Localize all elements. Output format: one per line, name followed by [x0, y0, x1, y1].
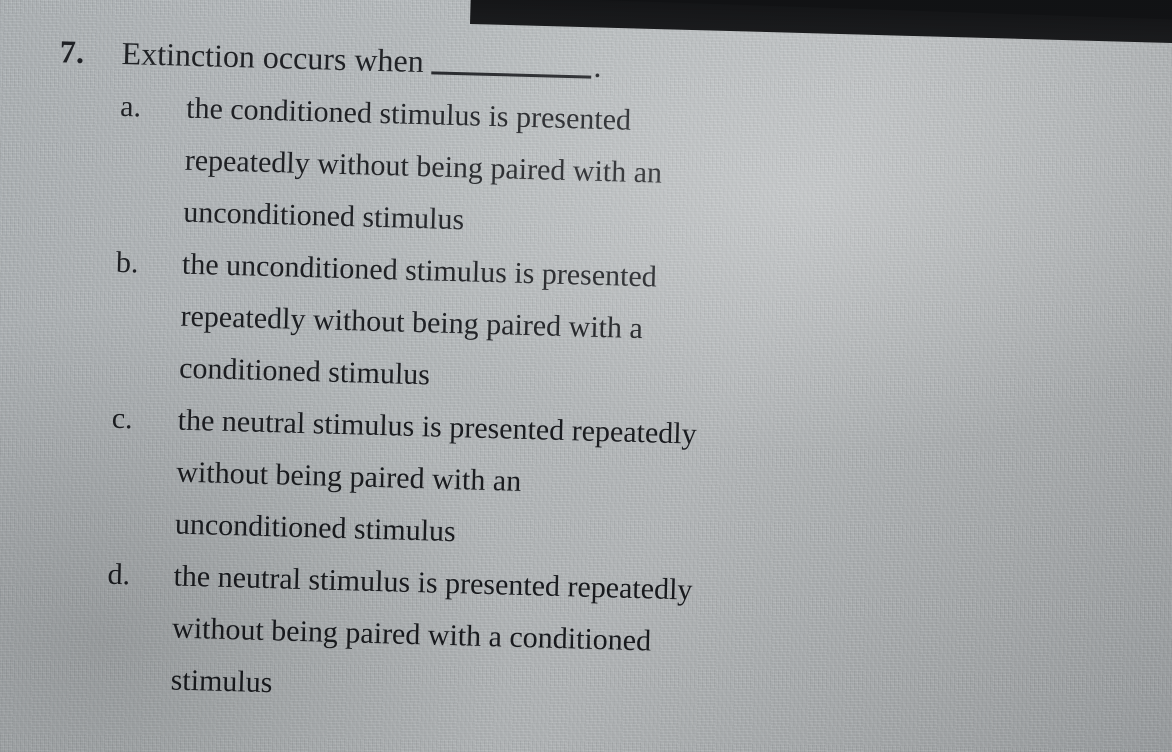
question-number: 7. [59, 25, 122, 79]
option-letter-b: b. [115, 237, 182, 291]
question-stem-period: . [593, 48, 602, 84]
question-stem-text: Extinction occurs when [121, 35, 424, 79]
option-text-a: the conditioned stimulus is presented re… [183, 83, 664, 252]
monitor-screen-surface: 5 7. Extinction occurs when. a. the cond… [0, 0, 1172, 752]
answer-options-list: a. the conditioned stimulus is presented… [42, 79, 1118, 731]
answer-option-d[interactable]: d. the neutral stimulus is presented rep… [104, 549, 1106, 732]
fill-in-blank-line [431, 49, 592, 78]
option-text-d: the neutral stimulus is presented repeat… [170, 551, 693, 721]
answer-option-c[interactable]: c. the neutral stimulus is presented rep… [108, 393, 1110, 576]
option-letter-d: d. [107, 549, 174, 603]
option-text-b: the unconditioned stimulus is presented … [178, 239, 657, 408]
option-letter-c: c. [111, 393, 178, 447]
answer-option-b[interactable]: b. the unconditioned stimulus is present… [113, 237, 1115, 420]
screenshot-root: 5 7. Extinction occurs when. a. the cond… [0, 0, 1172, 752]
option-text-c: the neutral stimulus is presented repeat… [174, 395, 697, 565]
question-document: 7. Extinction occurs when. a. the condit… [42, 25, 1120, 731]
answer-option-a[interactable]: a. the conditioned stimulus is presented… [117, 81, 1119, 264]
option-letter-a: a. [120, 81, 187, 135]
